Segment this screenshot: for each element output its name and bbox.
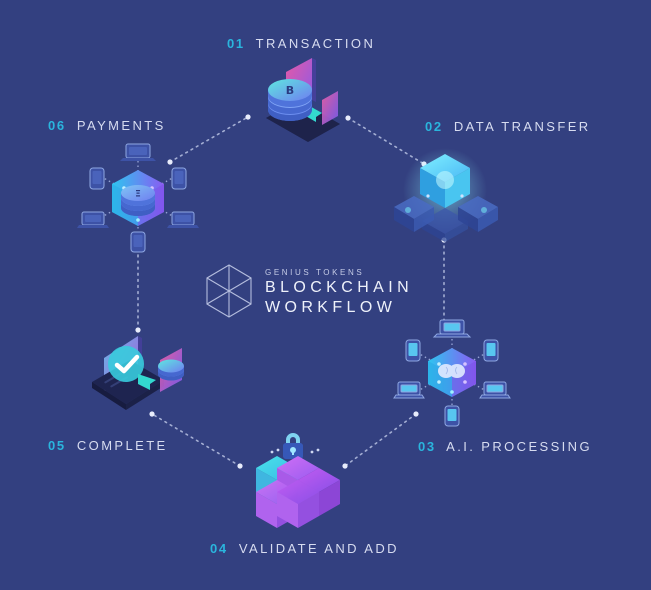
step-label-ai-processing: 03 A.I. PROCESSING — [418, 439, 592, 454]
logo-title-line1: BLOCKCHAIN — [265, 279, 413, 296]
step-title-ai-processing: A.I. PROCESSING — [446, 439, 592, 454]
step-title-transaction: TRANSACTION — [256, 36, 376, 51]
step-number-ai-processing: 03 — [418, 439, 441, 454]
svg-text:Ξ: Ξ — [135, 190, 141, 200]
step-icon-validate-add — [232, 422, 358, 530]
step-label-payments: 06 PAYMENTS — [48, 118, 166, 133]
step-number-transaction: 01 — [227, 36, 250, 51]
infographic-canvas: B 01 TRANSACTION — [0, 0, 651, 590]
step-title-payments: PAYMENTS — [77, 118, 166, 133]
step-icon-ai-processing — [396, 318, 508, 426]
logo-title-line2: WORKFLOW — [265, 299, 413, 316]
center-logo: GENIUS TOKENS BLOCKCHAIN WORKFLOW — [204, 262, 404, 320]
logo-brand: GENIUS TOKENS — [265, 268, 413, 277]
step-title-complete: COMPLETE — [77, 438, 168, 453]
step-icon-data-transfer — [392, 146, 502, 246]
step-label-data-transfer: 02 DATA TRANSFER — [425, 119, 591, 134]
step-number-validate-add: 04 — [210, 541, 233, 556]
logo-wordmark: GENIUS TOKENS BLOCKCHAIN WORKFLOW — [265, 266, 413, 316]
svg-text:B: B — [286, 84, 294, 97]
step-number-complete: 05 — [48, 438, 71, 453]
connector-complete-to-payments — [135, 242, 140, 332]
step-title-data-transfer: DATA TRANSFER — [454, 119, 591, 134]
step-icon-payments: Ξ — [78, 142, 198, 252]
step-label-validate-add: 04 VALIDATE AND ADD — [210, 541, 399, 556]
step-title-validate-add: VALIDATE AND ADD — [239, 541, 399, 556]
step-icon-complete — [86, 322, 198, 418]
step-label-complete: 05 COMPLETE — [48, 438, 168, 453]
step-number-data-transfer: 02 — [425, 119, 448, 134]
step-label-transaction: 01 TRANSACTION — [227, 36, 375, 51]
hexagon-outline-icon — [204, 263, 254, 319]
step-number-payments: 06 — [48, 118, 71, 133]
step-icon-transaction: B — [246, 56, 356, 136]
